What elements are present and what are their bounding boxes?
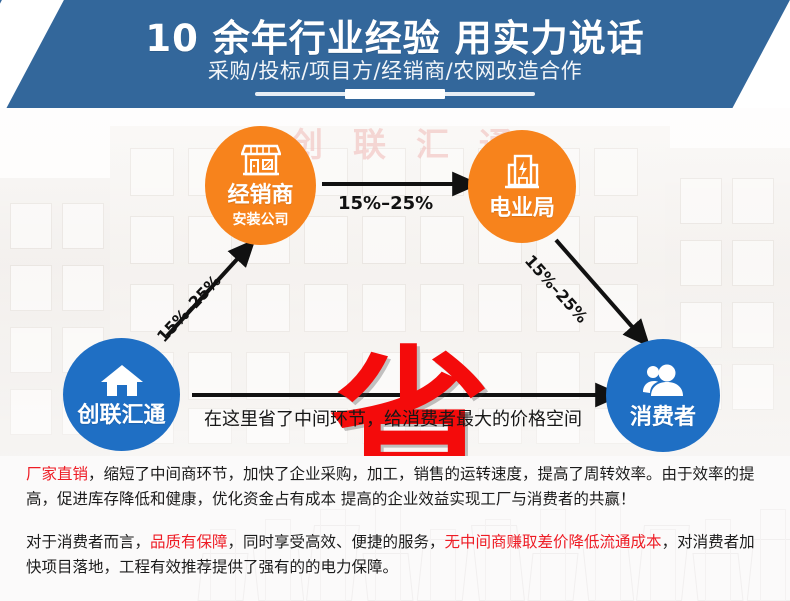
node-power-bureau-label: 电业局 <box>489 197 555 220</box>
people-icon <box>641 362 685 405</box>
edge-label-dealer-to-bureau: 15%–25% <box>338 193 433 214</box>
shop-icon <box>241 142 281 183</box>
edge-label-factory-to-consumer: 在这里省了中间环节，给消费者最大的价格空间 <box>204 405 582 431</box>
paragraph-2-highlight-2: 无中间商赚取差价降低流通成本 <box>445 533 662 551</box>
paragraph-2: 对于消费者而言，品质有保障，同时享受高效、便捷的服务，无中间商赚取差价降低流通成… <box>26 530 768 580</box>
node-dealer-sublabel: 安装公司 <box>233 209 289 229</box>
node-manufacturer-label: 创联汇通 <box>77 404 165 427</box>
node-manufacturer[interactable]: 创联汇通 <box>63 338 180 451</box>
paragraph-1-highlight: 厂家直销 <box>26 465 88 483</box>
paragraph-1: 厂家直销，缩短了中间商环节，加快了企业采购，加工，销售的运转速度，提高了周转效率… <box>26 462 768 512</box>
node-dealer-label: 经销商 <box>227 184 293 207</box>
node-consumer-label: 消费者 <box>630 406 696 429</box>
node-consumer[interactable]: 消费者 <box>606 339 720 452</box>
promo-banner: 10 余年行业经验 用实力说话 采购/投标/项目方/经销商/农网改造合作 创联汇… <box>0 0 790 601</box>
header-banner: 10 余年行业经验 用实力说话 采购/投标/项目方/经销商/农网改造合作 <box>0 0 790 108</box>
paragraph-2-highlight-1: 品质有保障 <box>150 533 228 551</box>
supply-chain-diagram: 省 经销商 安装公司 <box>0 108 790 456</box>
paragraph-2-part-c: ，同时享受高效、便捷的服务， <box>228 533 445 551</box>
paragraph-2-part-a: 对于消费者而言， <box>26 533 150 551</box>
description-copy: 厂家直销，缩短了中间商环节，加快了企业采购，加工，销售的运转速度，提高了周转效率… <box>26 462 768 580</box>
header-title: 10 余年行业经验 用实力说话 <box>0 8 790 62</box>
node-power-bureau[interactable]: 电业局 <box>468 130 576 243</box>
power-building-icon <box>502 153 542 196</box>
header-subtitle: 采购/投标/项目方/经销商/农网改造合作 <box>0 55 790 85</box>
node-dealer[interactable]: 经销商 安装公司 <box>205 126 316 245</box>
paragraph-1-body: ，缩短了中间商环节，加快了企业采购，加工，销售的运转速度，提高了周转效率。由于效… <box>26 465 755 508</box>
house-icon <box>100 362 144 403</box>
header-divider-center <box>345 89 445 99</box>
